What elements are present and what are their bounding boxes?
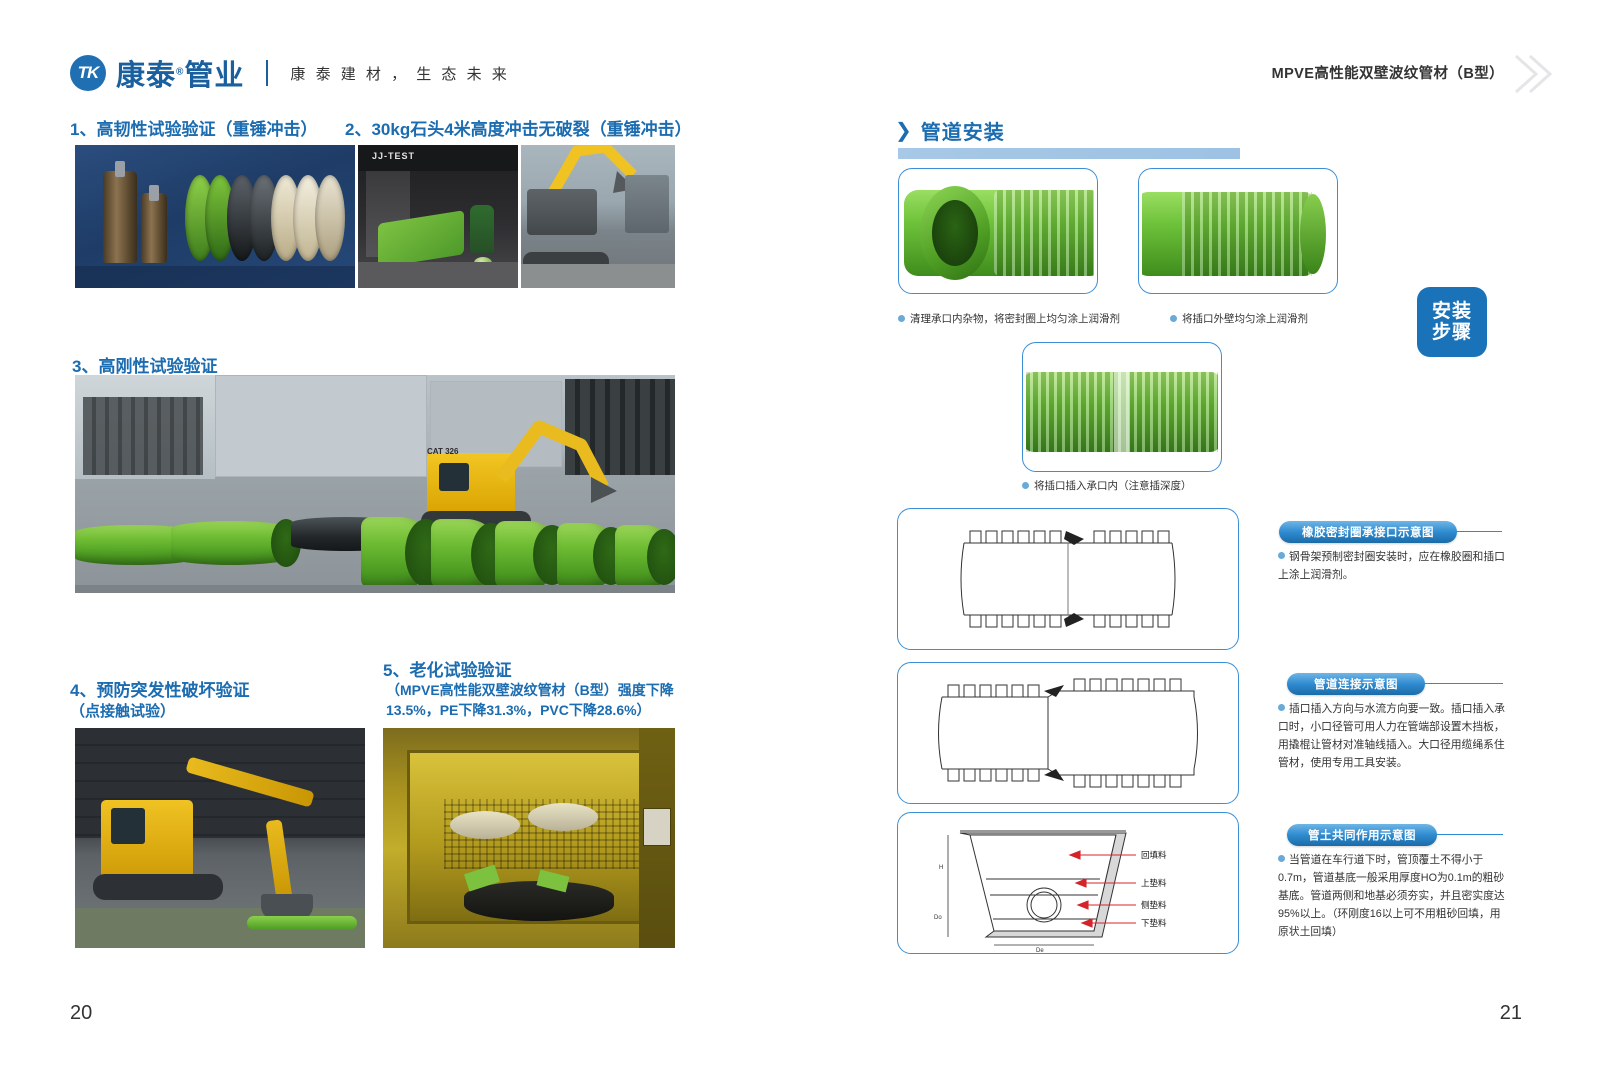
excavator-model-label: CAT 326: [427, 447, 458, 456]
diagram-pipe-soil-note: 当管道在车行道下时，管顶覆土不得小于0.7m，管道基底一般采用厚度HO为0.1m…: [1278, 851, 1506, 941]
diagram-pipe-connection-pill: 管道连接示意图: [1287, 673, 1425, 695]
diagram-pipe-connection-drawing: [898, 663, 1238, 803]
photo-point-contact-test: [75, 728, 365, 948]
step-3-caption-row: 将插口插入承口内（注意插深度）: [1022, 478, 1192, 493]
bullet-dot-icon: [1278, 552, 1285, 559]
diagram-pipe-soil-pill-line: [1435, 834, 1503, 835]
section-title-2: 2、30kg石头4米高度冲击无破裂（重锤冲击）: [345, 115, 692, 140]
svg-text:H: H: [939, 865, 943, 871]
bullet-dot-icon: [898, 315, 905, 322]
diagram-pipe-soil-pill: 管土共同作用示意图: [1287, 824, 1437, 846]
brochure-spread: TK 康泰®管业 康 泰 建 材 ， 生 态 未 来 MPVE高性能双壁波纹管材…: [0, 0, 1600, 1085]
diagram-rubber-seal-pill: 橡胶密封圈承接口示意图: [1279, 521, 1457, 543]
excavator-boom-shape: [495, 417, 625, 517]
svg-text:侧垫料: 侧垫料: [1141, 900, 1167, 910]
svg-text:De: De: [1036, 948, 1044, 953]
step-2-image: [1142, 172, 1334, 290]
svg-text:上垫料: 上垫料: [1141, 878, 1167, 888]
step-1-card: [898, 168, 1098, 294]
right-page-title: ❯ 管道安装: [895, 116, 1005, 145]
step-3-image: [1026, 346, 1218, 468]
step-2-card: [1138, 168, 1338, 294]
diagram-rubber-seal-note-text: 钢骨架预制密封圈安装时，应在橡胶圈和插口上涂上润滑剂。: [1278, 551, 1505, 581]
section-subtitle-4: （点接触试验）: [70, 700, 175, 721]
lab-machine-label: JJ-TEST: [372, 151, 415, 161]
step-2-caption-row: 将插口外壁均匀涂上润滑剂: [1170, 311, 1308, 326]
diagram-rubber-seal-pill-line: [1455, 531, 1502, 532]
photo-lab-machine: JJ-TEST: [358, 145, 518, 288]
badge-line-2: 步骤: [1432, 322, 1472, 343]
photo-aging-oven: [383, 728, 675, 948]
step-3-card: [1022, 342, 1222, 472]
title-underline-bar: [898, 148, 1240, 159]
step-1-caption-row: 清理承口内杂物，将密封圈上均匀涂上润滑剂: [898, 311, 1120, 326]
diagram-rubber-seal-note: 钢骨架预制密封圈安装时，应在橡胶圈和插口上涂上润滑剂。: [1278, 548, 1506, 584]
install-steps-badge: 安装 步骤: [1417, 287, 1487, 357]
right-page-title-text: 管道安装: [921, 116, 1005, 145]
section-title-1: 1、高韧性试验验证（重锤冲击）: [70, 115, 317, 140]
section-title-4: 4、预防突发性破坏验证: [70, 676, 249, 701]
diagram-pipe-connection-pill-line: [1423, 683, 1503, 684]
bullet-dot-icon: [1278, 855, 1285, 862]
photo-impact-weights: [75, 145, 355, 288]
step-1-image: [902, 172, 1094, 290]
bullet-dot-icon: [1278, 704, 1285, 711]
section-title-5: 5、老化试验验证: [383, 656, 511, 681]
diagram-rubber-seal-card: [897, 508, 1239, 650]
photo-excavator-outdoor: [521, 145, 675, 288]
diagram-pipe-soil-note-text: 当管道在车行道下时，管顶覆土不得小于0.7m，管道基底一般采用厚度HO为0.1m…: [1278, 854, 1505, 938]
page-number-right: 21: [1500, 1002, 1522, 1025]
diagram-pipe-connection-card: [897, 662, 1239, 804]
page-number-left: 20: [70, 1002, 92, 1025]
badge-line-1: 安装: [1432, 301, 1472, 322]
left-page: 1、高韧性试验验证（重锤冲击） 2、30kg石头4米高度冲击无破裂（重锤冲击） …: [0, 0, 800, 1085]
diagram-rubber-seal-drawing: [898, 509, 1238, 649]
svg-text:下垫料: 下垫料: [1141, 918, 1167, 928]
diagram-pipe-connection-note: 插口插入方向与水流方向要一致。插口插入承口时，小口径管可用人力在管端部设置木挡板…: [1278, 700, 1506, 772]
chevron-right-icon: ❯: [895, 121, 912, 141]
right-page: ❯ 管道安装 清理承口内杂物，将密封圈上均匀涂上润滑剂: [800, 0, 1600, 1085]
svg-text:回填料: 回填料: [1141, 850, 1167, 860]
diagram-pipe-connection-note-text: 插口插入方向与水流方向要一致。插口插入承口时，小口径管可用人力在管端部设置木挡板…: [1278, 703, 1505, 769]
bullet-dot-icon: [1022, 482, 1029, 489]
step-2-caption: 将插口外壁均匀涂上润滑剂: [1182, 311, 1308, 326]
diagram-trench-drawing: H Do De 回填料 上垫料 侧垫料 下垫料: [898, 813, 1238, 953]
bullet-dot-icon: [1170, 315, 1177, 322]
step-1-caption: 清理承口内杂物，将密封圈上均匀涂上润滑剂: [910, 311, 1120, 326]
section-title-3: 3、高刚性试验验证: [72, 352, 217, 377]
diagram-pipe-soil-card: H Do De 回填料 上垫料 侧垫料 下垫料: [897, 812, 1239, 954]
step-3-caption: 将插口插入承口内（注意插深度）: [1034, 478, 1192, 493]
svg-text:Do: Do: [934, 915, 942, 921]
section-subtitle-5: （MPVE高性能双壁波纹管材（B型）强度下降13.5%，PE下降31.3%，PV…: [386, 680, 686, 720]
photo-excavator-on-pipes: CAT 326: [75, 375, 675, 593]
